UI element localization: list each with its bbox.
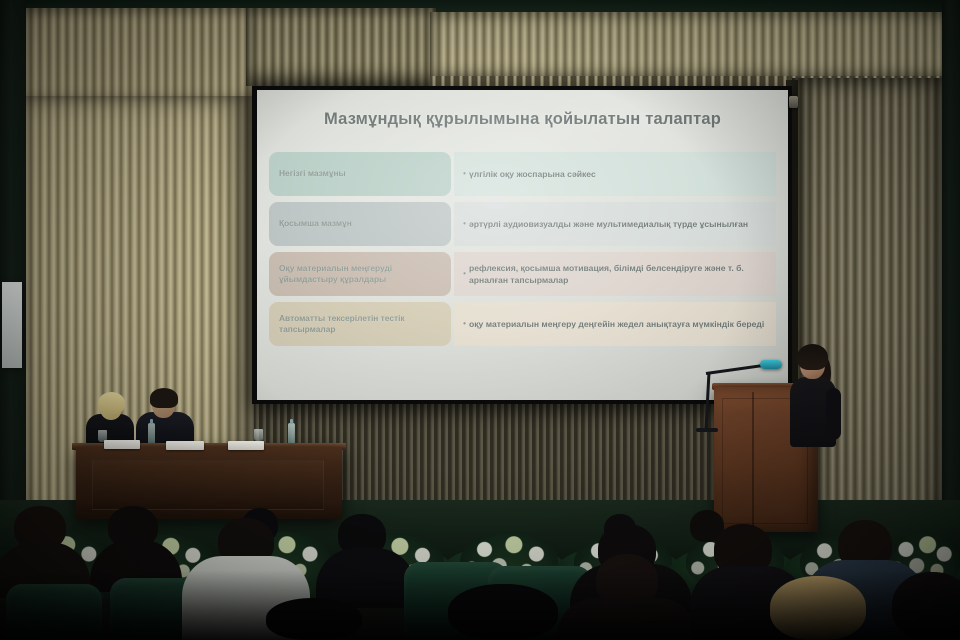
name-card: [104, 440, 140, 449]
panelist-right-hair: [150, 388, 178, 408]
name-card: [166, 441, 204, 450]
whiteboard-edge: [2, 282, 22, 368]
presenter-arm: [826, 388, 841, 440]
row-label-cell: Автоматты тексерілетін тестік тапсырмала…: [269, 302, 451, 346]
table-row: Негізгі мазмұны • үлгілік оқу жоспарына …: [269, 152, 776, 196]
curtain-pelmet-right: [430, 12, 960, 82]
presidium-front-panel: [92, 460, 324, 510]
presenter-hair: [797, 344, 828, 370]
row-body-text: оқу материалын меңгеру деңгейін жедел ан…: [469, 318, 768, 330]
water-bottle: [288, 423, 295, 444]
row-body-cell: • әртүрлі аудиовизуалды және мультимедиа…: [454, 202, 776, 246]
screen-sensor-icon: [789, 96, 798, 108]
wall-pillar-right: [942, 0, 960, 520]
row-label-cell: Негізгі мазмұны: [269, 152, 451, 196]
audience-head: [266, 598, 362, 640]
row-label-cell: Оқу материалын меңгеруді ұйымдастыру құр…: [269, 252, 451, 296]
audience-head: [892, 572, 960, 640]
presentation-slide: Мазмұндық құрылымына қойылатын талаптар …: [257, 90, 788, 400]
table-row: Оқу материалын меңгеруді ұйымдастыру құр…: [269, 252, 776, 296]
water-glass: [254, 429, 263, 441]
wall-pillar-left: [0, 0, 26, 520]
auditorium-seat: [6, 584, 102, 640]
bullet-icon: •: [460, 218, 469, 229]
water-bottle: [148, 423, 155, 444]
bullet-icon: •: [460, 168, 469, 179]
table-row: Автоматты тексерілетін тестік тапсырмала…: [269, 302, 776, 346]
audience-head: [448, 584, 558, 640]
row-body-cell: • оқу материалын меңгеру деңгейін жедел …: [454, 302, 776, 346]
slide-content-table: Негізгі мазмұны • үлгілік оқу жоспарына …: [269, 152, 776, 352]
projection-screen: Мазмұндық құрылымына қойылатын талаптар …: [257, 90, 788, 400]
table-row: Қосымша мазмұн • әртүрлі аудиовизуалды ж…: [269, 202, 776, 246]
audience-head-blonde: [770, 576, 866, 640]
bullet-icon: •: [460, 268, 469, 279]
slide-title: Мазмұндық құрылымына қойылатын талаптар: [257, 110, 788, 129]
podium-seam: [752, 392, 754, 530]
row-label-cell: Қосымша мазмұн: [269, 202, 451, 246]
curtain-pelmet-middle: [246, 8, 436, 86]
row-body-text: әртүрлі аудиовизуалды және мультимедиалы…: [469, 218, 768, 230]
microphone-head-icon: [760, 360, 782, 369]
curtain-pelmet-left: [22, 8, 252, 108]
conference-photo-scene: Мазмұндық құрылымына қойылатын талаптар …: [0, 0, 960, 640]
bullet-icon: •: [460, 318, 469, 329]
row-body-cell: • үлгілік оқу жоспарына сәйкес: [454, 152, 776, 196]
row-body-cell: • рефлексия, қосымша мотивация, білімді …: [454, 252, 776, 296]
microphone-base: [696, 428, 718, 432]
row-body-text: рефлексия, қосымша мотивация, білімді бе…: [469, 262, 768, 286]
name-card: [228, 441, 264, 450]
audience-shoulders: [556, 598, 698, 640]
row-body-text: үлгілік оқу жоспарына сәйкес: [469, 168, 768, 180]
panelist-left-hair: [98, 392, 125, 414]
